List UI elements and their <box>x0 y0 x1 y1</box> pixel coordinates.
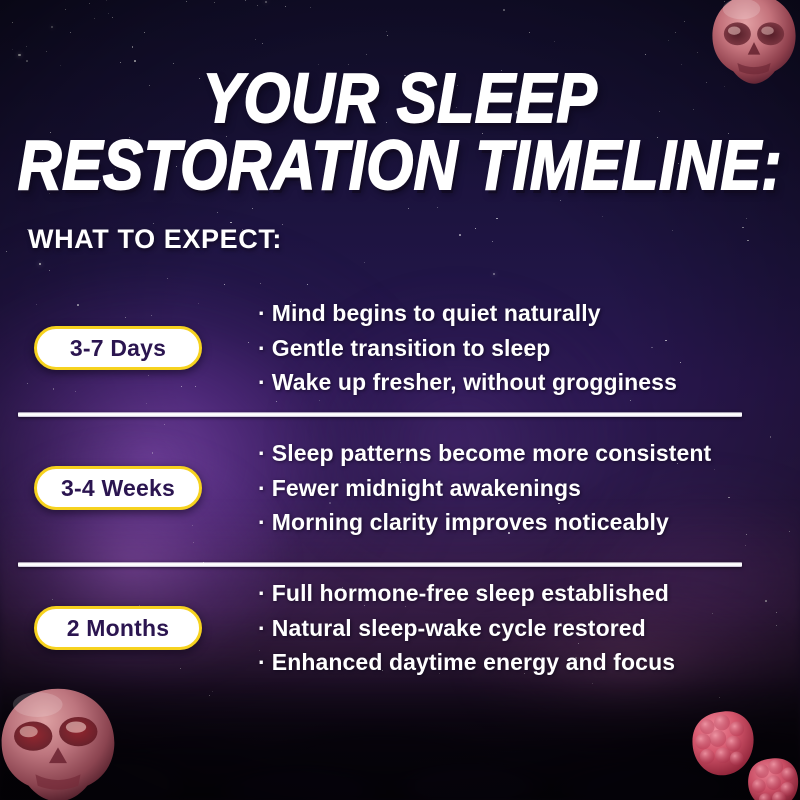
list-item-label: Morning clarity improves noticeably <box>272 509 669 535</box>
timeline-row: 2 Months ·Full hormone-free sleep establ… <box>0 558 800 698</box>
bullet-dot-icon: · <box>258 645 266 680</box>
timeframe-badge-3-4-weeks[interactable]: 3-4 Weeks <box>34 466 202 510</box>
list-item: ·Gentle transition to sleep <box>258 331 776 366</box>
bullet-dot-icon: · <box>258 331 266 366</box>
benefit-list: ·Full hormone-free sleep established ·Na… <box>258 576 800 681</box>
list-item-label: Fewer midnight awakenings <box>272 475 581 501</box>
section-divider <box>18 562 742 567</box>
timeline-row: 3-7 Days ·Mind begins to quiet naturally… <box>0 278 800 418</box>
subheading: WHAT TO EXPECT: <box>28 224 282 255</box>
list-item: ·Morning clarity improves noticeably <box>258 505 776 540</box>
bullet-dot-icon: · <box>258 505 266 540</box>
bullet-dot-icon: · <box>258 365 266 400</box>
list-item: ·Sleep patterns become more consistent <box>258 436 776 471</box>
timeframe-badge-2-months[interactable]: 2 Months <box>34 606 202 650</box>
list-item-label: Sleep patterns become more consistent <box>272 440 712 466</box>
list-item: ·Wake up fresher, without grogginess <box>258 365 776 400</box>
list-item-label: Full hormone-free sleep established <box>272 580 669 606</box>
list-item: ·Enhanced daytime energy and focus <box>258 645 776 680</box>
list-item: ·Mind begins to quiet naturally <box>258 296 776 331</box>
benefit-list: ·Mind begins to quiet naturally ·Gentle … <box>258 296 800 401</box>
list-item-label: Gentle transition to sleep <box>272 335 551 361</box>
page-title: YOUR SLEEP RESTORATION TIMELINE: <box>0 66 800 201</box>
list-item: ·Fewer midnight awakenings <box>258 471 776 506</box>
list-item-label: Mind begins to quiet naturally <box>272 300 601 326</box>
timeline-row: 3-4 Weeks ·Sleep patterns become more co… <box>0 418 800 558</box>
bullet-dot-icon: · <box>258 436 266 471</box>
badge-cell: 3-7 Days <box>0 326 258 370</box>
section-divider <box>18 412 742 417</box>
list-item-label: Enhanced daytime energy and focus <box>272 649 675 675</box>
bullet-dot-icon: · <box>258 296 266 331</box>
bullet-dot-icon: · <box>258 611 266 646</box>
sleep-timeline-poster: YOUR SLEEP RESTORATION TIMELINE: WHAT TO… <box>0 0 800 800</box>
badge-cell: 3-4 Weeks <box>0 466 258 510</box>
title-block: YOUR SLEEP RESTORATION TIMELINE: <box>0 66 800 177</box>
bullet-dot-icon: · <box>258 471 266 506</box>
list-item-label: Natural sleep-wake cycle restored <box>272 615 646 641</box>
badge-cell: 2 Months <box>0 606 258 650</box>
list-item: ·Natural sleep-wake cycle restored <box>258 611 776 646</box>
list-item-label: Wake up fresher, without grogginess <box>272 369 677 395</box>
timeframe-badge-3-7-days[interactable]: 3-7 Days <box>34 326 202 370</box>
bullet-dot-icon: · <box>258 576 266 611</box>
timeline-rows: 3-7 Days ·Mind begins to quiet naturally… <box>0 278 800 698</box>
benefit-list: ·Sleep patterns become more consistent ·… <box>258 436 800 541</box>
list-item: ·Full hormone-free sleep established <box>258 576 776 611</box>
